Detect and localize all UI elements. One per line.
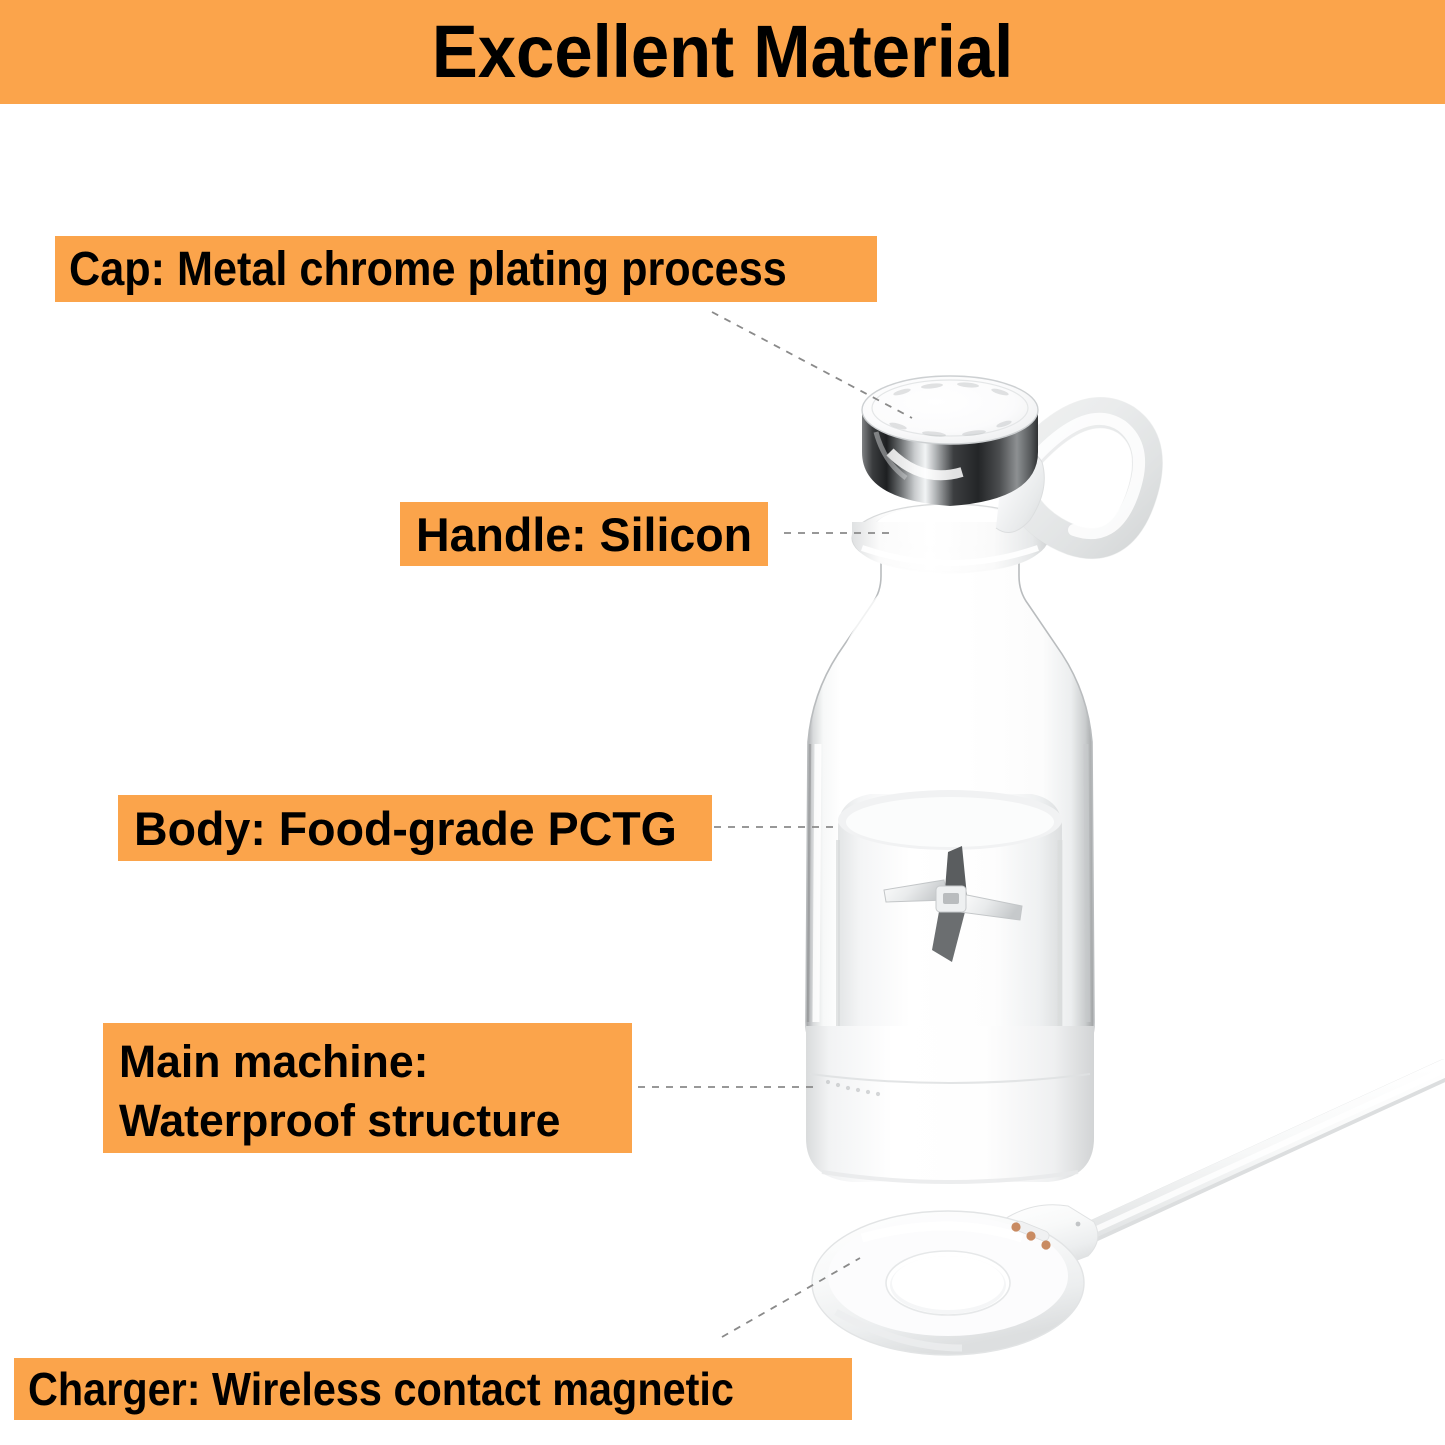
callout-main-machine: Main machine: Waterproof structure (103, 1023, 632, 1153)
leader-line-charger (722, 1258, 860, 1337)
charging-cable (1078, 1068, 1445, 1238)
header-banner: Excellent Material (0, 0, 1445, 104)
callout-handle: Handle: Silicon (400, 502, 768, 566)
magnetic-contact-pins (1011, 1220, 1050, 1250)
motor-base (806, 1026, 1094, 1182)
cap-chrome-ring (862, 376, 1038, 506)
infographic-page: Excellent Material (0, 0, 1445, 1445)
silicone-handle-loop (996, 413, 1147, 544)
blade-assembly (838, 790, 1062, 1040)
charger-indicator-dot (1076, 1222, 1081, 1227)
product-illustration (0, 0, 1445, 1445)
bottle-body (806, 553, 1094, 1068)
callout-main-machine-label-line1: Main machine: (119, 1032, 611, 1091)
page-title: Excellent Material (432, 15, 1013, 89)
callout-cap-label: Cap: Metal chrome plating process (69, 242, 784, 297)
cap-lid-disc (862, 376, 1038, 444)
callout-charger: Charger: Wireless contact magnetic (14, 1358, 852, 1420)
led-indicator-dots (826, 1080, 880, 1096)
callout-main-machine-label-line2: Waterproof structure (119, 1091, 611, 1150)
callout-handle-label: Handle: Silicon (416, 507, 749, 562)
leader-line-cap (712, 312, 912, 418)
neck-collar (852, 504, 1048, 574)
callout-body-label: Body: Food-grade PCTG (134, 801, 690, 856)
callout-cap: Cap: Metal chrome plating process (55, 236, 877, 302)
callout-charger-label: Charger: Wireless contact magnetic (28, 1362, 757, 1416)
wireless-charging-ring (812, 1205, 1098, 1355)
leader-lines (0, 0, 1445, 1445)
callout-body: Body: Food-grade PCTG (118, 795, 712, 861)
